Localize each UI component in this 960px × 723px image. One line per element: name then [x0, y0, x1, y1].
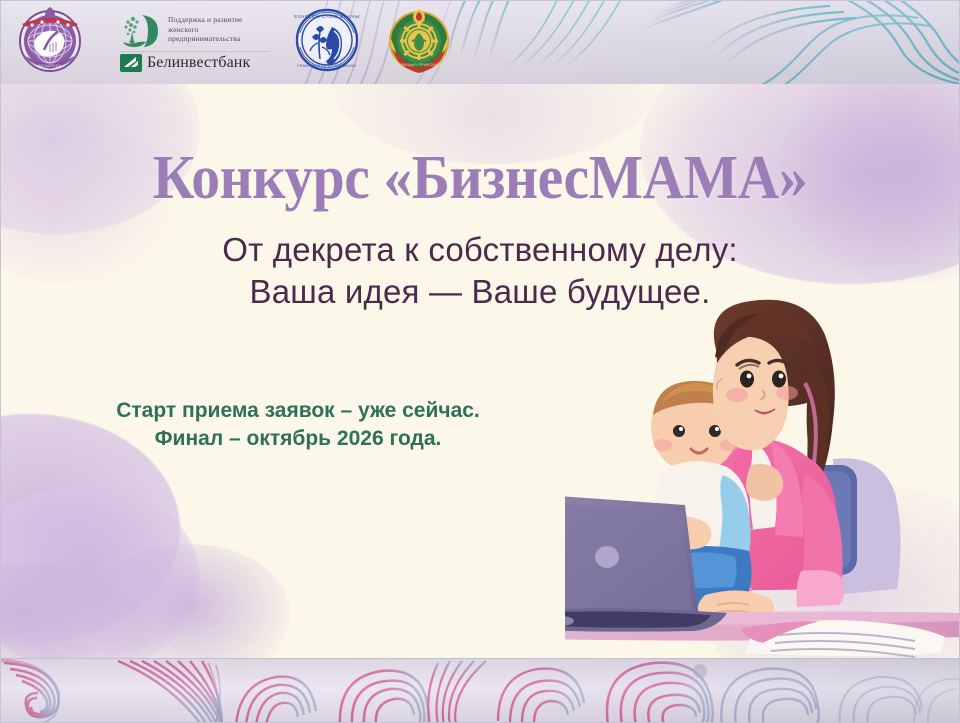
- svg-text:ГРАМАДСКАЕ АБ'ЯДНАННЕ: ГРАМАДСКАЕ АБ'ЯДНАННЕ: [297, 64, 356, 68]
- bottom-swirl-pattern-icon: [0, 659, 960, 723]
- tree-arc-icon: [120, 12, 162, 48]
- svg-text:ФЕДЭРАЦЫЯ ПРАФСАЮЗАЎ: ФЕДЭРАЦЫЯ ПРАФСАЮЗАЎ: [391, 63, 447, 67]
- deadline-text: Старт приема заявок – уже сейчас. Финал …: [18, 397, 578, 453]
- svg-text:БЕЛАРУСКІ САЮЗ ЖАНЧЫН: БЕЛАРУСКІ САЮЗ ЖАНЧЫН: [294, 14, 360, 19]
- deadline-line-1: Старт приема заявок – уже сейчас.: [18, 397, 578, 425]
- chamber-emblem-icon: БЕЛАРУСЬ: [14, 4, 86, 76]
- poster-root: Конкурс «БизнесМАМА» От декрета к собств…: [0, 0, 960, 723]
- poster-title: Конкурс «БизнесМАМА»: [34, 146, 927, 210]
- support-caption-line-2: женского: [168, 25, 243, 35]
- support-caption: Поддержка и развитие женского предприним…: [168, 12, 243, 44]
- women-union-emblem-icon: БЕЛАРУСКІ САЮЗ ЖАНЧЫН ГРАМАДСКАЕ АБ'ЯДНА…: [294, 7, 360, 73]
- logo-belarusian-chamber-emblem: БЕЛАРУСЬ: [14, 4, 86, 81]
- belinvestbank-mark-icon: [120, 54, 142, 72]
- support-caption-line-1: Поддержка и развитие: [168, 15, 243, 25]
- logo-women-entrepreneurship-support: Поддержка и развитие женского предприним…: [114, 12, 270, 72]
- belinvestbank-brand-name: Белинвестбанк: [147, 54, 250, 72]
- logo-belarusian-union-of-women: БЕЛАРУСКІ САЮЗ ЖАНЧЫН ГРАМАДСКАЕ АБ'ЯДНА…: [294, 7, 360, 78]
- support-caption-line-3: предпринимательства: [168, 34, 243, 44]
- poster-subtitle-line-1: От декрета к собственному делу:: [0, 229, 960, 271]
- deadline-line-2: Финал – октябрь 2026 года.: [18, 425, 578, 453]
- logo-divider: [120, 51, 270, 52]
- svg-text:БЕЛАРУСЬ: БЕЛАРУСЬ: [38, 63, 62, 68]
- logo-federation-of-trade-unions: ФЕДЭРАЦЫЯ ПРАФСАЮЗАЎ: [386, 7, 452, 78]
- logo-row: БЕЛАРУСЬ: [0, 0, 452, 84]
- bottom-decor-band: [0, 658, 960, 723]
- main-panel: Конкурс «БизнесМАМА» От декрета к собств…: [0, 84, 960, 658]
- trade-unions-emblem-icon: ФЕДЭРАЦЫЯ ПРАФСАЮЗАЎ: [386, 7, 452, 73]
- mother-with-baby-at-laptop-illustration: [565, 299, 960, 658]
